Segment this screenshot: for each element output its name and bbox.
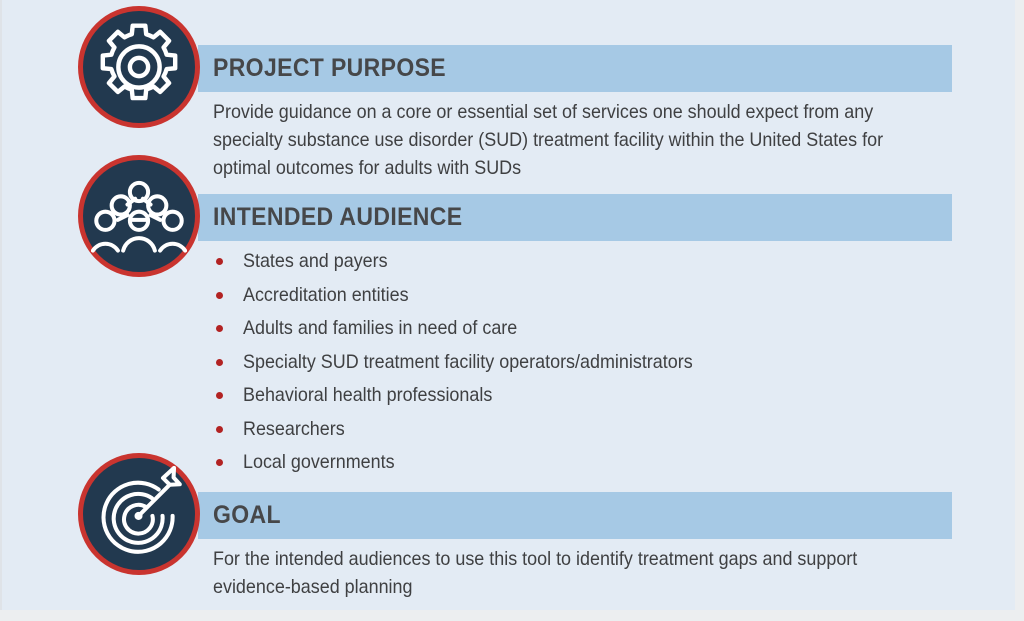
bullet-icon — [216, 459, 223, 466]
target-arrow-icon — [91, 466, 187, 562]
section-body-project-purpose: Provide guidance on a core or essential … — [213, 98, 885, 182]
bullet-icon — [216, 325, 223, 332]
infographic-canvas: PROJECT PURPOSE Provide guidance on a co… — [0, 0, 1015, 610]
list-item: Researchers — [213, 417, 953, 451]
list-item: Behavioral health professionals — [213, 383, 953, 417]
section-title-goal: GOAL — [213, 501, 281, 530]
page-wrap: PROJECT PURPOSE Provide guidance on a co… — [0, 0, 1024, 621]
section-title-project-purpose: PROJECT PURPOSE — [213, 54, 446, 83]
section-header-project-purpose: PROJECT PURPOSE — [198, 45, 952, 92]
bullet-icon — [216, 292, 223, 299]
section-body-goal: For the intended audiences to use this t… — [213, 545, 885, 601]
bullet-icon — [216, 392, 223, 399]
list-item: Specialty SUD treatment facility operato… — [213, 350, 953, 384]
list-item: Accreditation entities — [213, 283, 953, 317]
list-item-label: Adults and families in need of care — [243, 316, 517, 340]
people-group-icon — [91, 168, 187, 264]
page-bottom-margin — [0, 610, 1024, 621]
section-header-intended-audience: INTENDED AUDIENCE — [198, 194, 952, 241]
gear-icon-badge — [78, 6, 200, 128]
gear-icon — [91, 19, 187, 115]
list-item: Adults and families in need of care — [213, 316, 953, 350]
intended-audience-list: States and payers Accreditation entities… — [213, 249, 953, 484]
list-item: States and payers — [213, 249, 953, 283]
list-item-label: Local governments — [243, 450, 395, 474]
section-title-intended-audience: INTENDED AUDIENCE — [213, 203, 462, 232]
list-item-label: Researchers — [243, 417, 345, 441]
list-item-label: Specialty SUD treatment facility operato… — [243, 350, 693, 374]
page-right-margin — [1015, 0, 1024, 621]
section-header-goal: GOAL — [198, 492, 952, 539]
people-group-icon-badge — [78, 155, 200, 277]
bullet-icon — [216, 426, 223, 433]
target-arrow-icon-badge — [78, 453, 200, 575]
bullet-icon — [216, 359, 223, 366]
list-item-label: States and payers — [243, 249, 388, 273]
bullet-icon — [216, 258, 223, 265]
list-item-label: Accreditation entities — [243, 283, 409, 307]
list-item: Local governments — [213, 450, 953, 484]
list-item-label: Behavioral health professionals — [243, 383, 492, 407]
